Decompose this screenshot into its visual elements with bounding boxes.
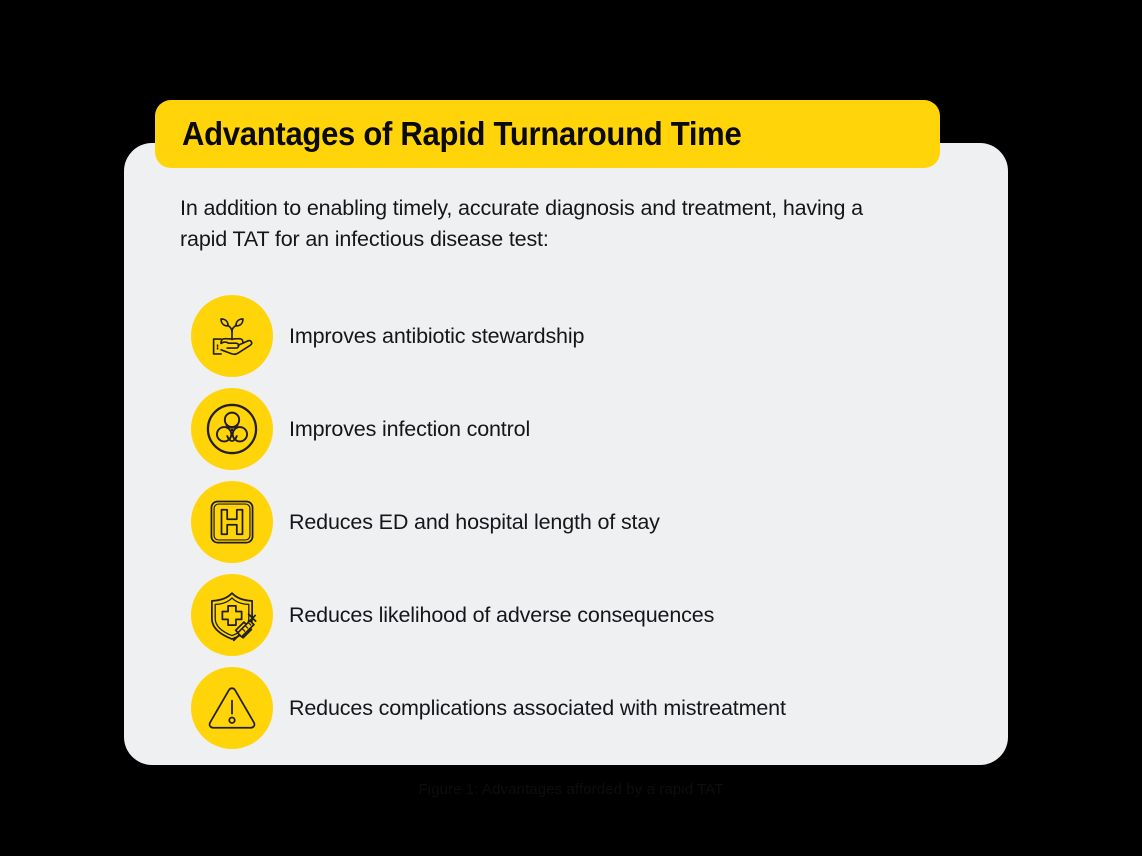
list-item: Reduces complications associated with mi…	[191, 667, 981, 749]
icon-badge	[191, 295, 273, 377]
icon-badge	[191, 481, 273, 563]
intro-paragraph: In addition to enabling timely, accurate…	[180, 193, 900, 255]
title-banner: Advantages of Rapid Turnaround Time	[155, 100, 940, 168]
list-item: Improves infection control	[191, 388, 981, 470]
figure-caption: Figure 1: Advantages afforded by a rapid…	[0, 781, 1142, 798]
page-title: Advantages of Rapid Turnaround Time	[182, 115, 741, 153]
list-item-label: Reduces complications associated with mi…	[289, 696, 786, 721]
list-item: Reduces ED and hospital length of stay	[191, 481, 981, 563]
list-item-label: Reduces likelihood of adverse consequenc…	[289, 603, 714, 628]
benefits-list: Improves antibiotic stewardship Improves…	[191, 295, 981, 760]
list-item-label: Improves antibiotic stewardship	[289, 324, 584, 349]
list-item: Reduces likelihood of adverse consequenc…	[191, 574, 981, 656]
icon-badge	[191, 574, 273, 656]
icon-badge	[191, 667, 273, 749]
sprout-in-hand-icon	[204, 308, 260, 364]
hospital-sign-icon	[204, 494, 260, 550]
list-item-label: Reduces ED and hospital length of stay	[289, 510, 660, 535]
shield-syringe-icon	[204, 587, 260, 643]
list-item-label: Improves infection control	[289, 417, 530, 442]
icon-badge	[191, 388, 273, 470]
biohazard-icon	[204, 401, 260, 457]
warning-triangle-icon	[204, 680, 260, 736]
list-item: Improves antibiotic stewardship	[191, 295, 981, 377]
